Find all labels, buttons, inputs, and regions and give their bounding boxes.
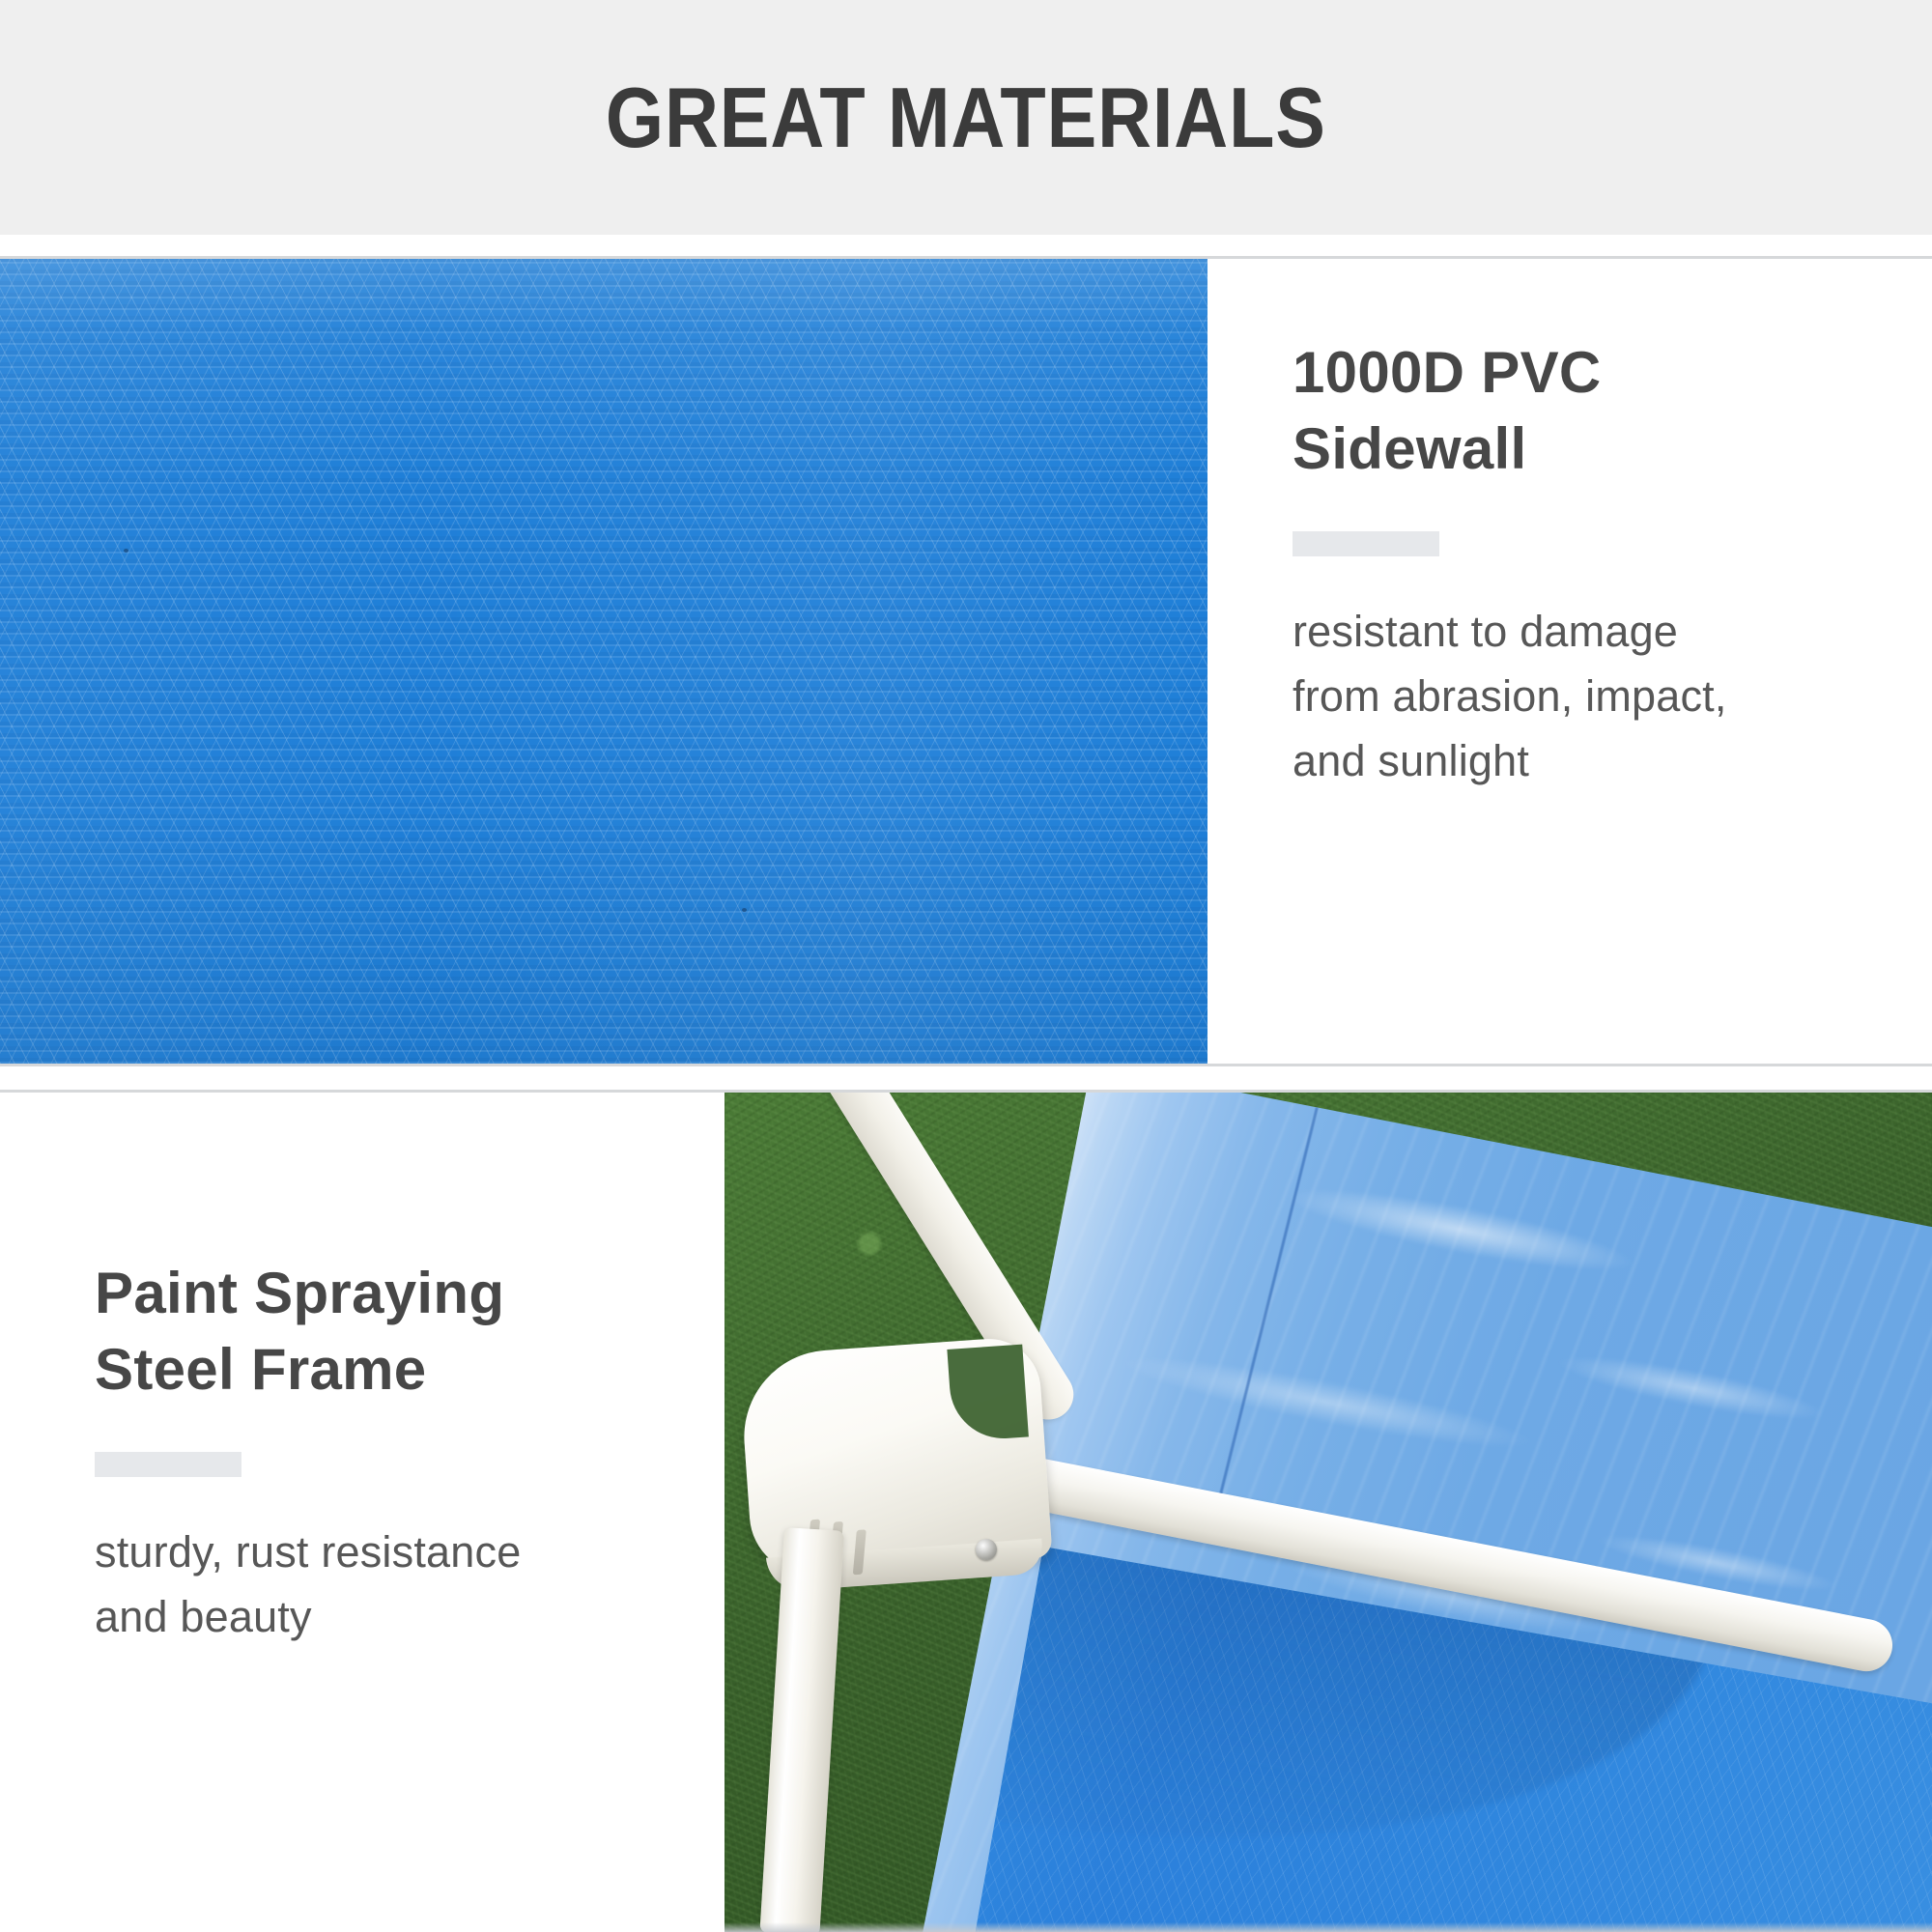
steel-frame-divider-bar [95,1452,241,1477]
fabric-speck [742,908,747,912]
pvc-sidewall-divider-bar [1293,531,1439,556]
feature-section-steel-frame: Paint Spraying Steel Frame sturdy, rust … [0,1093,1932,1932]
pvc-sidewall-body-line1: resistant to damage [1293,599,1874,664]
steel-frame-heading-line2: Steel Frame [95,1337,426,1402]
steel-frame-body: sturdy, rust resistance and beauty [95,1520,667,1649]
pvc-sidewall-heading-line1: 1000D PVC [1293,340,1602,405]
fabric-lighting-overlay [0,259,1207,1064]
connector-rib [853,1529,867,1575]
pvc-fabric-image [0,259,1207,1064]
steel-frame-text-block: Paint Spraying Steel Frame sturdy, rust … [0,1093,724,1932]
divider-rule-mid-upper [0,1064,1932,1066]
fabric-speck [124,549,128,553]
steel-frame-heading: Paint Spraying Steel Frame [95,1255,667,1407]
pvc-sidewall-text-block: 1000D PVC Sidewall resistant to damage f… [1207,259,1932,1064]
frame-screw [976,1539,997,1560]
page-header: GREAT MATERIALS [0,0,1932,235]
pvc-sidewall-body-line3: and sunlight [1293,728,1874,793]
pvc-sidewall-body-line2: from abrasion, impact, [1293,664,1874,728]
page-title: GREAT MATERIALS [606,69,1326,167]
connector-notch [947,1345,1029,1442]
steel-frame-photo [724,1093,1932,1932]
photo-bottom-edge [724,1922,1932,1932]
pvc-sidewall-heading-line2: Sidewall [1293,416,1527,481]
pvc-sidewall-body: resistant to damage from abrasion, impac… [1293,599,1874,793]
pvc-sidewall-heading: 1000D PVC Sidewall [1293,334,1874,487]
steel-frame-body-line2: and beauty [95,1584,667,1649]
product-feature-page: GREAT MATERIALS 1000D PVC Sidewall resis… [0,0,1932,1932]
steel-frame-body-line1: sturdy, rust resistance [95,1520,667,1584]
feature-section-pvc-sidewall: 1000D PVC Sidewall resistant to damage f… [0,259,1932,1064]
steel-frame-heading-line1: Paint Spraying [95,1261,504,1325]
